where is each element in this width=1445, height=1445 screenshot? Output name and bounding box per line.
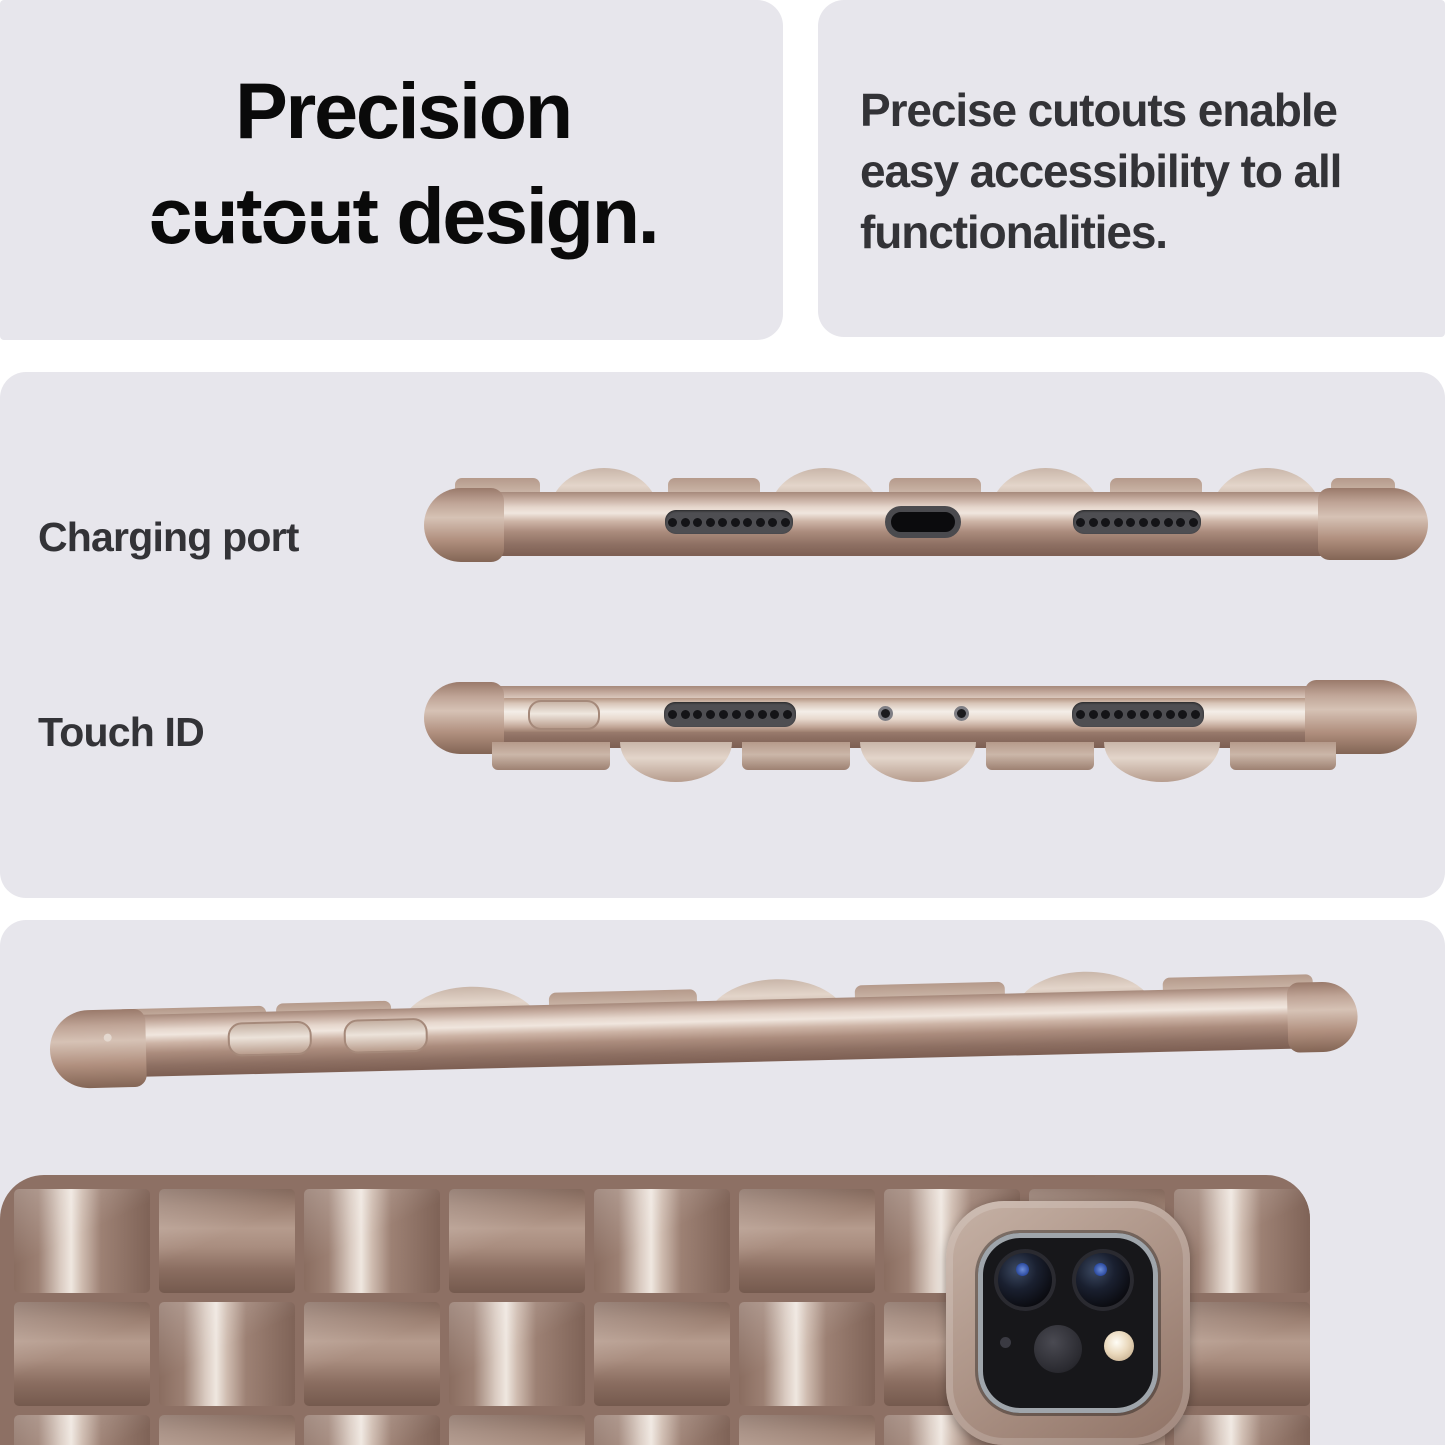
- weave-tile: [14, 1415, 150, 1445]
- weave-bumps-front: [492, 742, 1372, 790]
- grille-hole: [1191, 710, 1200, 719]
- case-back-texture: [0, 1175, 1310, 1445]
- grille-hole: [1089, 518, 1098, 527]
- grille-hole: [1101, 518, 1110, 527]
- weave-tile: [739, 1415, 875, 1445]
- grille-hole: [758, 710, 767, 719]
- weave-tile: [449, 1302, 585, 1406]
- label-touch-id: Touch ID: [38, 709, 204, 756]
- grille-hole: [783, 710, 792, 719]
- headline-line-2: cutout design.: [38, 163, 768, 268]
- weave-bump: [742, 742, 850, 770]
- weave-bump: [1104, 742, 1220, 782]
- speaker-grille-right: [1072, 702, 1204, 727]
- grille-hole: [693, 518, 702, 527]
- case-corner-cap-left: [49, 1009, 147, 1089]
- grille-hole: [1139, 518, 1148, 527]
- weave-tile: [159, 1189, 295, 1293]
- weave-tile: [594, 1189, 730, 1293]
- lidar-sensor: [1034, 1325, 1082, 1373]
- grille-hole: [706, 518, 715, 527]
- grille-hole: [743, 518, 752, 527]
- grille-hole: [718, 518, 727, 527]
- weave-tile: [304, 1415, 440, 1445]
- microphone-2: [954, 706, 969, 721]
- weave-tile: [304, 1189, 440, 1293]
- weave-tile: [159, 1415, 295, 1445]
- weave-bump: [860, 742, 976, 782]
- weave-tile: [1174, 1189, 1310, 1293]
- subcopy-text: Precise cutouts enable easy accessibilit…: [860, 80, 1420, 264]
- grille-hole: [1176, 518, 1185, 527]
- grille-hole: [781, 518, 790, 527]
- grille-hole: [1089, 710, 1098, 719]
- grille-hole: [770, 710, 779, 719]
- shot-side-edge: [61, 959, 1354, 1125]
- grille-hole: [1164, 518, 1173, 527]
- grille-hole: [1076, 710, 1085, 719]
- weave-tile: [594, 1415, 730, 1445]
- grille-hole: [1178, 710, 1187, 719]
- grille-hole: [668, 518, 677, 527]
- grille-hole: [1114, 710, 1123, 719]
- weave-bump: [1230, 742, 1336, 770]
- volume-up-key: [948, 1175, 1010, 1177]
- shot-bottom-edge: [430, 464, 1420, 579]
- touch-id-button-cutout: [528, 700, 600, 730]
- page-title: Precision cutout design.: [38, 58, 768, 268]
- weave-bump: [620, 742, 732, 782]
- subcopy-card: Precise cutouts enable easy accessibilit…: [818, 0, 1445, 337]
- headline-line-1: Precision: [38, 58, 768, 163]
- grille-hole: [1166, 710, 1175, 719]
- camera-lens-wide: [994, 1249, 1056, 1311]
- side-profile-card: [0, 920, 1445, 1445]
- grille-hole: [756, 518, 765, 527]
- speaker-grille-left: [664, 702, 796, 727]
- headline-line-2-rest: design.: [377, 171, 658, 260]
- case-corner-cap-right: [1318, 488, 1428, 560]
- weave-tile: [449, 1189, 585, 1293]
- grille-hole: [668, 710, 677, 719]
- weave-tile: [594, 1302, 730, 1406]
- grille-hole: [693, 710, 702, 719]
- grille-hole: [1127, 710, 1136, 719]
- camera-island: [946, 1201, 1190, 1445]
- grille-hole: [1126, 518, 1135, 527]
- volume-down-key: [1033, 1175, 1095, 1177]
- speaker-grille-right: [1073, 510, 1201, 534]
- case-corner-cap-right: [1287, 981, 1359, 1053]
- weave-tile: [1174, 1302, 1310, 1406]
- grille-hole: [1101, 710, 1110, 719]
- grille-hole: [768, 518, 777, 527]
- product-feature-page: Precision cutout design. Precise cutouts…: [0, 0, 1445, 1445]
- weave-tile: [14, 1302, 150, 1406]
- camera-lens-ultrawide: [1072, 1249, 1134, 1311]
- grille-hole: [1114, 518, 1123, 527]
- grille-hole: [1153, 710, 1162, 719]
- usb-c-charging-port: [885, 506, 961, 538]
- grille-hole: [1140, 710, 1149, 719]
- weave-tile: [449, 1415, 585, 1445]
- weave-tile: [1174, 1415, 1310, 1445]
- device-side-band: [492, 698, 1382, 732]
- weave-tile: [304, 1302, 440, 1406]
- volume-down-button: [343, 1018, 428, 1054]
- case-corner-cap-left: [424, 488, 504, 562]
- speaker-grille-left: [665, 510, 793, 534]
- grille-hole: [1151, 518, 1160, 527]
- grille-hole: [681, 710, 690, 719]
- camera-plate: [978, 1233, 1158, 1413]
- grille-hole: [731, 518, 740, 527]
- camera-microphone: [1000, 1337, 1011, 1348]
- grille-hole: [1076, 518, 1085, 527]
- grille-hole: [1189, 518, 1198, 527]
- grille-hole: [706, 710, 715, 719]
- headline-card: Precision cutout design.: [0, 0, 783, 340]
- grille-hole: [732, 710, 741, 719]
- weave-bump: [492, 742, 610, 770]
- weave-tile: [159, 1302, 295, 1406]
- shot-top-edge: [432, 672, 1407, 797]
- grille-hole: [719, 710, 728, 719]
- weave-tile: [739, 1189, 875, 1293]
- weave-tile: [14, 1189, 150, 1293]
- volume-up-button: [227, 1021, 312, 1057]
- weave-tile: [739, 1302, 875, 1406]
- grille-hole: [745, 710, 754, 719]
- flash-led: [1104, 1331, 1134, 1361]
- label-charging-port: Charging port: [38, 514, 299, 561]
- headline-cutout-word: cutout: [148, 163, 376, 268]
- precision-cutouts-card: Charging port Touch ID: [0, 372, 1445, 898]
- weave-bump: [986, 742, 1094, 770]
- microphone-1: [878, 706, 893, 721]
- grille-hole: [681, 518, 690, 527]
